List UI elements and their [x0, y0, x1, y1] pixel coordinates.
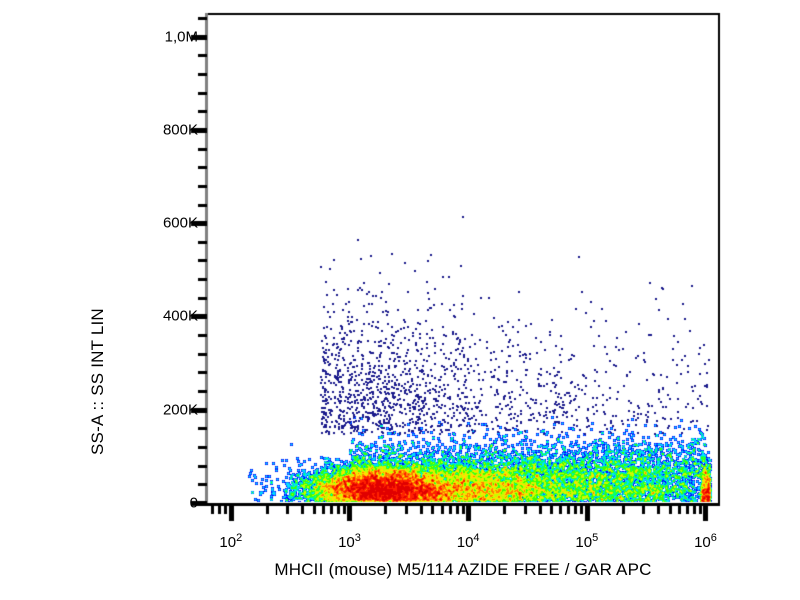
y-axis-label: SS-A :: SS INT LIN: [88, 55, 108, 455]
x-tick-label-3: 105: [575, 532, 598, 551]
x-tick-label-1: 103: [338, 532, 361, 551]
y-tick-label-3: 600K: [163, 215, 198, 232]
y-tick-label-2: 400K: [163, 308, 198, 325]
x-tick-label-4: 106: [694, 532, 717, 551]
y-tick-label-4: 800K: [163, 121, 198, 138]
x-axis-tick-labels: 102103104105106: [0, 520, 800, 560]
x-tick-label-0: 102: [219, 532, 242, 551]
y-tick-label-5: 1,0M: [165, 28, 198, 45]
y-axis-tick-labels: 0200K400K600K800K1,0M: [130, 0, 198, 600]
flow-cytometry-scatter-plot: SS-A :: SS INT LIN MHCII (mouse) M5/114 …: [0, 0, 800, 600]
y-tick-label-1: 200K: [163, 401, 198, 418]
scatter-plot-canvas: [0, 0, 800, 600]
x-axis-label: MHCII (mouse) M5/114 AZIDE FREE / GAR AP…: [207, 560, 719, 580]
y-tick-label-0: 0: [190, 495, 198, 512]
x-tick-label-2: 104: [457, 532, 480, 551]
